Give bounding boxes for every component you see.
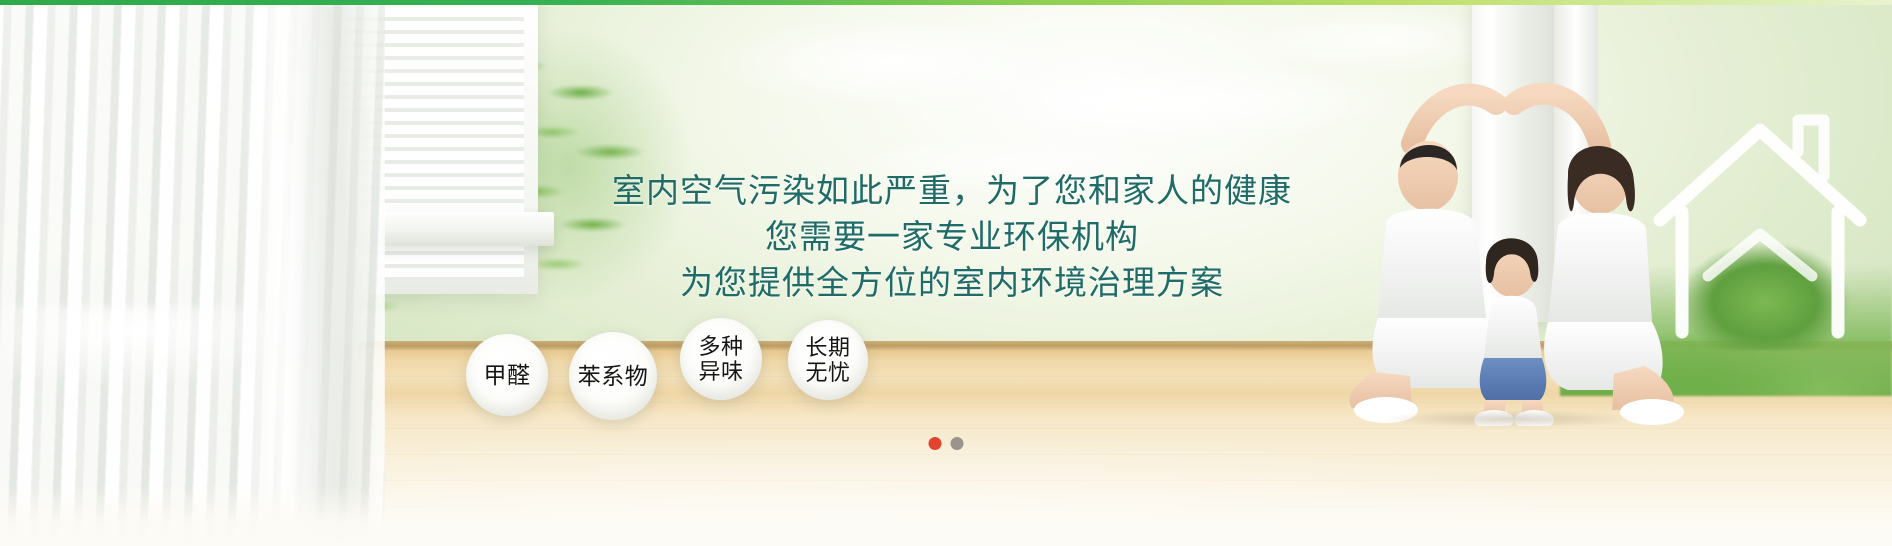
bottom-fade-overlay [0, 486, 1892, 546]
hero-banner-carousel[interactable]: 室内空气污染如此严重，为了您和家人的健康 您需要一家专业环保机构 为您提供全方位… [0, 0, 1892, 546]
badge-label: 甲醛 [484, 362, 531, 389]
badge-label-top: 长期 [805, 335, 850, 360]
carousel-pagination[interactable] [929, 437, 964, 450]
carousel-dot-2[interactable] [951, 437, 964, 450]
badge-label-top: 多种 [698, 334, 743, 359]
badge-benzene-series[interactable]: 苯系物 [569, 332, 657, 420]
feature-badge-group: 甲醛 苯系物 多种 异味 长期 无忧 [0, 318, 1892, 438]
badge-formaldehyde[interactable]: 甲醛 [466, 334, 548, 416]
curtain-fold-highlight [238, 0, 378, 546]
badge-multiple-odors[interactable]: 多种 异味 [680, 318, 762, 400]
badge-label: 苯系物 [578, 363, 649, 390]
badge-long-term-worry-free[interactable]: 长期 无忧 [788, 320, 868, 400]
carousel-dot-1[interactable] [929, 437, 942, 450]
badge-label-bottom: 无忧 [805, 360, 850, 385]
badge-label-bottom: 异味 [698, 359, 743, 384]
top-accent-bar [0, 0, 1892, 5]
